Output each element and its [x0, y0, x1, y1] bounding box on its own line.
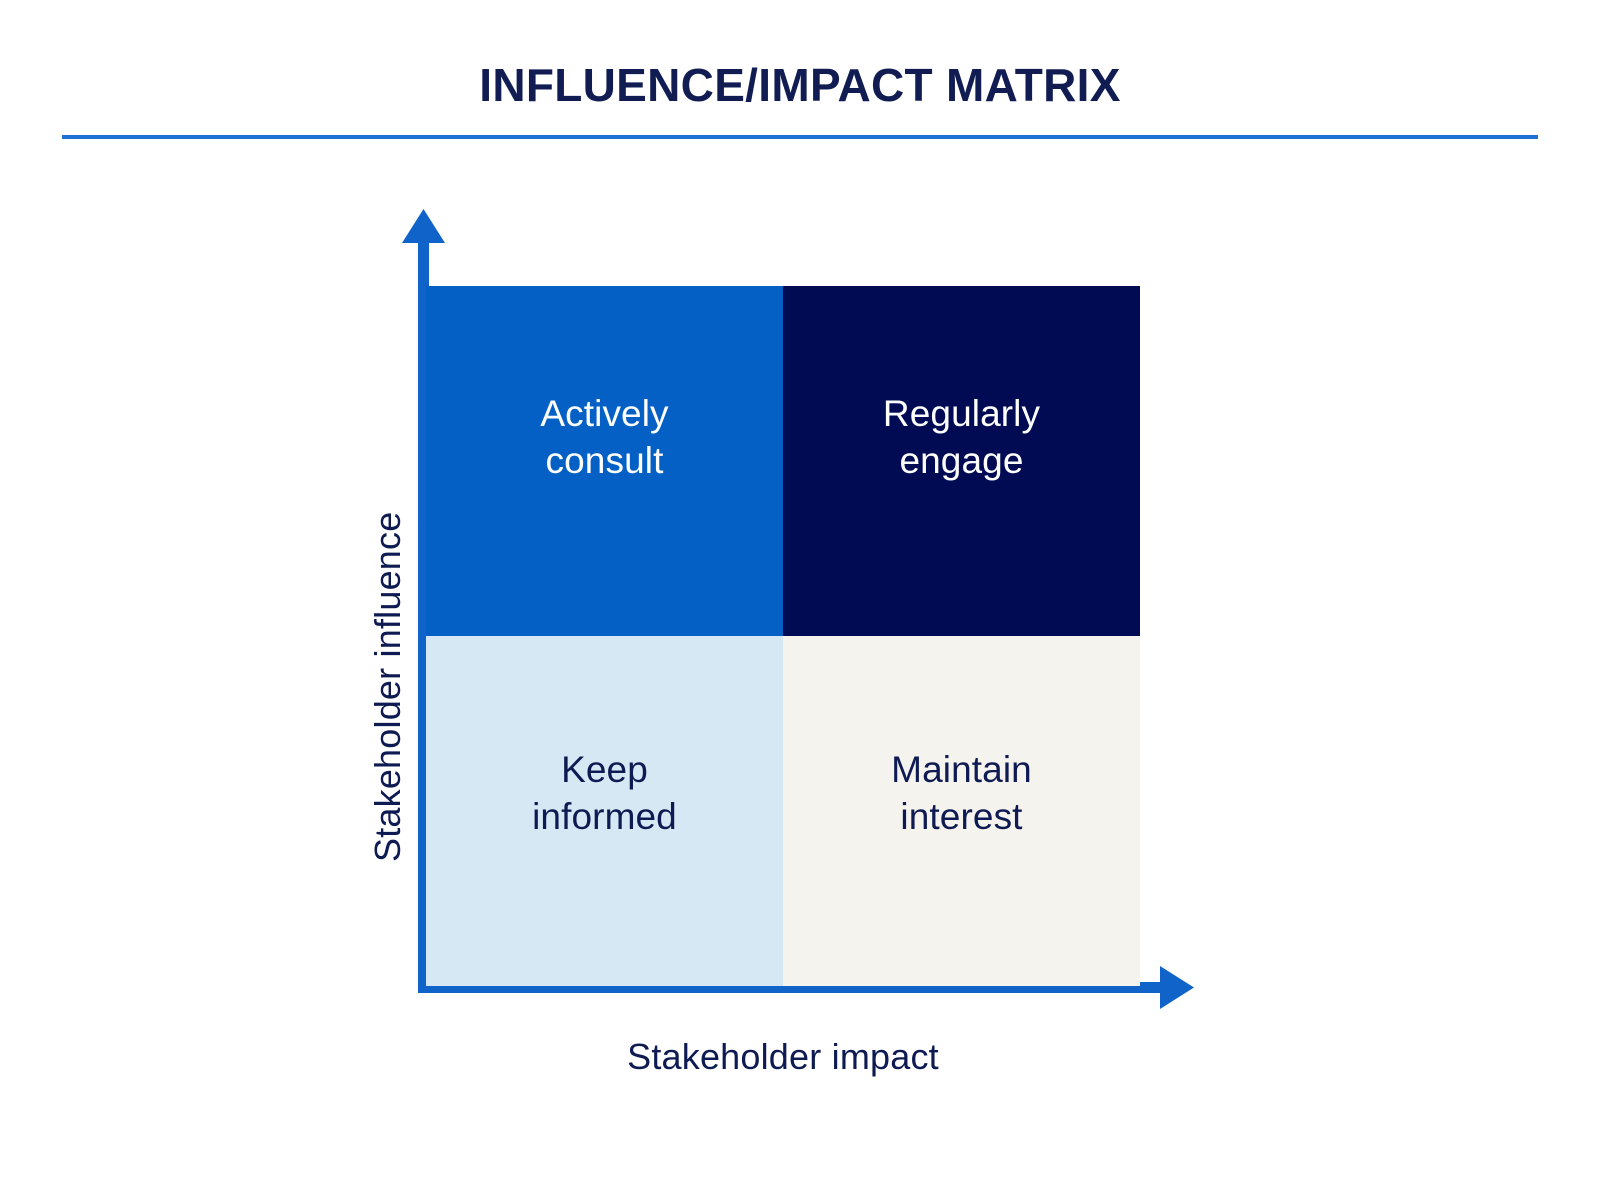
y-axis-arrowhead	[402, 209, 445, 243]
quadrant-maintain-interest[interactable]: Maintain interest	[783, 636, 1140, 986]
quadrant-label-line1: Regularly	[883, 393, 1040, 434]
page-title: INFLUENCE/IMPACT MATRIX	[0, 58, 1600, 112]
slide-canvas: INFLUENCE/IMPACT MATRIX Actively consult…	[0, 0, 1600, 1201]
quadrant-label-line2: informed	[532, 796, 677, 837]
y-axis-title: Stakeholder influence	[367, 512, 409, 862]
quadrant-label-line1: Actively	[540, 393, 668, 434]
quadrant-label-line2: engage	[899, 440, 1023, 481]
x-axis-arrowhead	[1160, 966, 1194, 1009]
x-axis-title: Stakeholder impact	[426, 1036, 1140, 1078]
quadrant-label-keep-informed: Keep informed	[522, 746, 687, 841]
quadrant-label-maintain-interest: Maintain interest	[881, 746, 1042, 841]
quadrant-keep-informed[interactable]: Keep informed	[426, 636, 783, 986]
quadrant-label-line2: interest	[900, 796, 1022, 837]
quadrant-label-regularly-engage: Regularly engage	[873, 390, 1050, 485]
quadrant-regularly-engage[interactable]: Regularly engage	[783, 286, 1140, 636]
quadrant-label-line1: Maintain	[891, 749, 1032, 790]
quadrant-label-line1: Keep	[561, 749, 648, 790]
quadrant-label-line2: consult	[546, 440, 664, 481]
quadrant-actively-consult[interactable]: Actively consult	[426, 286, 783, 636]
quadrant-label-actively-consult: Actively consult	[530, 390, 678, 485]
title-divider	[62, 135, 1538, 139]
influence-impact-matrix: Actively consult Regularly engage Keep i…	[426, 286, 1140, 986]
